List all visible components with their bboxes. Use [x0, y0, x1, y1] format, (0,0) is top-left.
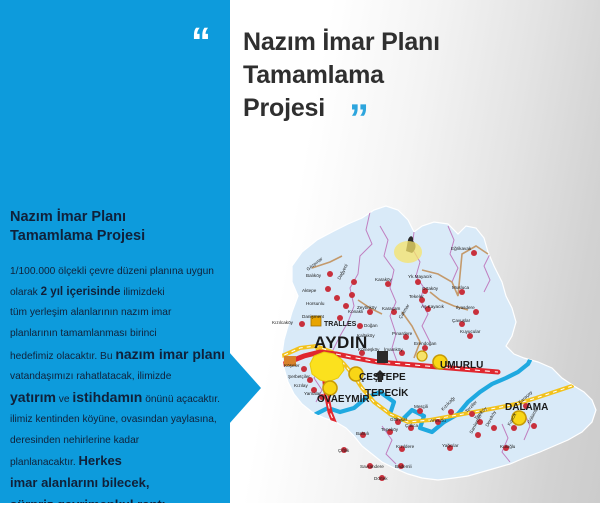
sidebar-body-line-3: tüm yerleşim alanlarının nazım imar [10, 303, 222, 323]
sidebar-body-line-6: vatandaşımızı rahatlatacak, ilimizde [10, 367, 222, 387]
page-title: Nazım İmar Planı Tamamlama Projesi [243, 26, 533, 125]
monument-icon [377, 351, 388, 363]
svg-text:Karaköy: Karaköy [375, 277, 393, 282]
svg-text:Musluca: Musluca [452, 285, 470, 290]
page-title-line-1: Nazım İmar Planı [243, 26, 533, 59]
sidebar-body-line-2: olarak 2 yıl içerisinde ilimizdeki [10, 282, 222, 303]
page-title-line-3: Projesi [243, 92, 533, 125]
svg-text:TRALLES: TRALLES [324, 321, 357, 328]
svg-text:Doğan: Doğan [364, 323, 378, 328]
sidebar-body-text: 1/100.000 ölçekli çevre düzeni planına u… [10, 262, 222, 507]
sidebar-arrow-pointer [229, 352, 261, 424]
svg-text:Ilyasdere: Ilyasdere [456, 305, 475, 310]
svg-text:Tepeköy: Tepeköy [381, 427, 399, 432]
svg-text:Aktepe: Aktepe [302, 288, 317, 293]
sidebar-title-line-1: Nazım İmar Planı [10, 208, 220, 227]
svg-text:Köşeler: Köşeler [284, 363, 300, 368]
quote-close-icon: ” [349, 99, 368, 139]
svg-text:Balıköy: Balıköy [306, 273, 322, 278]
svg-text:Çavuşlar: Çavuşlar [452, 318, 471, 323]
sidebar-body-line-5: hedefimiz olacaktır. Bu nazım imar planı [10, 344, 222, 367]
svg-text:UMURLU: UMURLU [440, 360, 483, 371]
svg-text:Karaçam: Karaçam [382, 306, 401, 311]
svg-text:Aş.Kayacık: Aş.Kayacık [421, 304, 445, 309]
svg-text:Kızılcaköy: Kızılcaköy [272, 320, 294, 325]
sidebar-title: Nazım İmar Planı Tamamlama Projesi [10, 208, 220, 246]
svg-text:Kızıldere: Kızıldere [396, 444, 415, 449]
svg-text:Çiftlik: Çiftlik [338, 448, 350, 453]
svg-text:Yamalar: Yamalar [304, 391, 321, 396]
svg-text:Kuyucular: Kuyucular [460, 329, 481, 334]
svg-text:Dörtek: Dörtek [374, 476, 388, 481]
sidebar-body-line-9: deresinden nehirlerine kadar [10, 431, 222, 451]
svg-text:Yk.Mayacık: Yk.Mayacık [408, 274, 432, 279]
poster-root: AYDIN UMURLU ÇEŞTEPE TEPECİK OVAEYMİR DA… [0, 0, 600, 507]
svg-text:Kömeşköy: Kömeşköy [358, 347, 380, 352]
svg-text:Savrandere: Savrandere [360, 464, 384, 469]
svg-text:Mesçili: Mesçili [414, 404, 428, 409]
sidebar-body-line-8: ilimiz kentinden köyüne, ovasından yayla… [10, 410, 222, 430]
svg-text:Danişment: Danişment [302, 314, 325, 319]
svg-text:Kaltaköy: Kaltaköy [357, 333, 375, 338]
bottom-white-strip [0, 503, 600, 507]
svg-text:Yağcılar: Yağcılar [442, 443, 459, 448]
svg-text:İmamköy: İmamköy [384, 346, 403, 352]
svg-text:ÇEŞTEPE: ÇEŞTEPE [359, 372, 406, 383]
sidebar-body-line-11: imar alanlarını bilecek, [10, 473, 222, 495]
svg-text:Eğrikavak: Eğrikavak [451, 246, 472, 251]
sidebar-body-line-10: planlanacaktır. Herkes [10, 451, 222, 473]
svg-text:Tekeler: Tekeler [409, 294, 424, 299]
sidebar-body-line-7: yatırım ve istihdamın önünü açacaktır. [10, 387, 222, 410]
svg-text:Şerbetçiler: Şerbetçiler [288, 374, 310, 379]
svg-text:DALAMA: DALAMA [505, 402, 548, 413]
svg-text:Çıtlıca: Çıtlıca [405, 423, 418, 428]
sidebar-body-line-1: 1/100.000 ölçekli çevre düzeni planına u… [10, 262, 222, 282]
page-title-line-2: Tamamlama [243, 59, 533, 92]
svg-text:Pınardere: Pınardere [392, 331, 413, 336]
svg-text:Armutlu: Armutlu [430, 418, 446, 423]
svg-text:TEPECİK: TEPECİK [365, 386, 409, 399]
quote-open-icon: “ [191, 22, 210, 62]
svg-text:Kızılay: Kızılay [294, 383, 308, 388]
svg-text:Konaklı: Konaklı [348, 309, 363, 314]
sidebar-body-line-4: planlarının tamamlanması birinci [10, 324, 222, 344]
svg-text:Gölhisar: Gölhisar [390, 417, 408, 422]
svg-text:Horsunlu: Horsunlu [306, 301, 325, 306]
aydin-map: AYDIN UMURLU ÇEŞTEPE TEPECİK OVAEYMİR DA… [262, 196, 600, 507]
sidebar-title-line-2: Tamamlama Projesi [10, 227, 220, 246]
svg-text:Ortaköy: Ortaköy [422, 286, 439, 291]
svg-text:Kuloğlu: Kuloğlu [500, 444, 516, 449]
svg-text:Erendoğan: Erendoğan [414, 341, 437, 346]
svg-text:Bademli: Bademli [395, 464, 412, 469]
svg-text:Bahtılı: Bahtılı [356, 431, 369, 436]
svg-text:OVAEYMİR: OVAEYMİR [317, 392, 370, 405]
